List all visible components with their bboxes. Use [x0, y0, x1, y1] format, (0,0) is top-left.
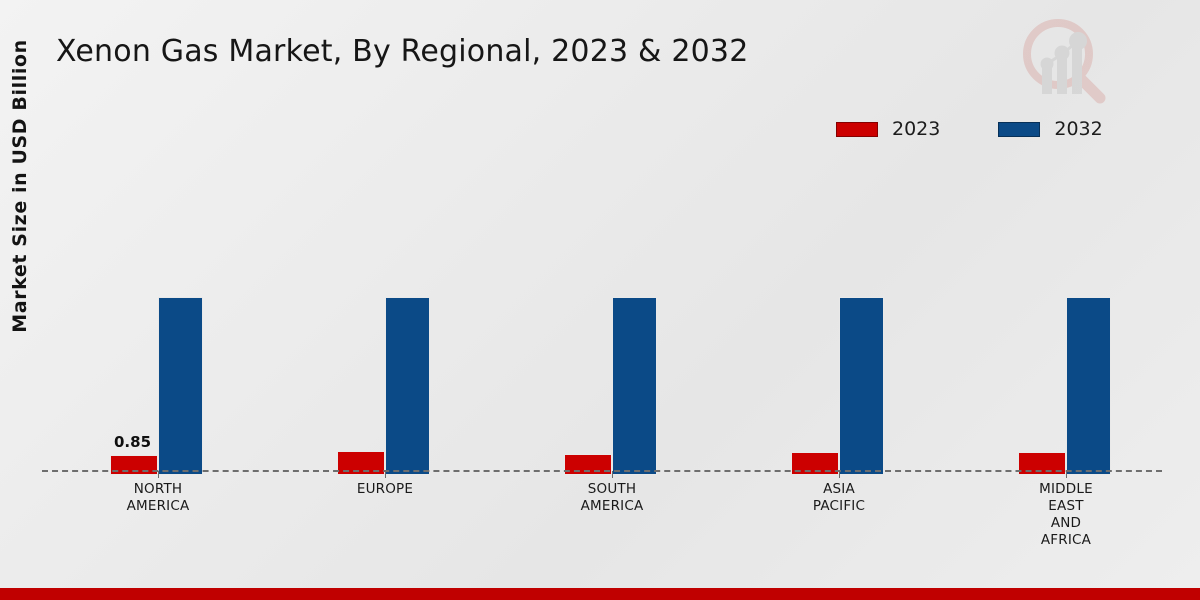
bar-2032-asia-pacific[interactable] [839, 297, 884, 475]
bar-2032-south-america[interactable] [612, 297, 657, 475]
x-axis-label-asia-pacific-line-1: ASIA [779, 481, 899, 498]
x-axis-label-north-america-line-2: AMERICA [98, 498, 218, 515]
axis-tick-asia-pacific [839, 471, 840, 478]
x-axis-label-asia-pacific: ASIA PACIFIC [779, 481, 899, 515]
x-axis-label-asia-pacific-line-2: PACIFIC [779, 498, 899, 515]
x-axis-label-middle-east-and-africa-line-1: MIDDLE [1006, 481, 1126, 498]
x-axis-label-middle-east-and-africa: MIDDLE EAST AND AFRICA [1006, 481, 1126, 549]
x-axis-label-middle-east-and-africa-line-4: AFRICA [1006, 532, 1126, 549]
chart-legend: 2023 2032 [836, 118, 1103, 140]
axis-tick-europe [385, 471, 386, 478]
bar-2032-europe[interactable] [385, 297, 430, 475]
bar-group-north-america: 0.85 [110, 150, 203, 475]
axis-tick-middle-east-and-africa [1066, 471, 1067, 478]
bar-group-europe [337, 150, 430, 475]
x-axis-label-europe-line-1: EUROPE [325, 481, 445, 498]
legend-swatch-2032 [998, 122, 1040, 137]
plot-area: 0.85 [42, 150, 1167, 475]
footer-accent-strip [0, 588, 1200, 600]
x-axis-label-europe: EUROPE [325, 481, 445, 498]
bar-group-middle-east-and-africa [1018, 150, 1111, 475]
legend-label-2032: 2032 [1054, 118, 1102, 140]
bar-group-asia-pacific [791, 150, 884, 475]
legend-swatch-2023 [836, 122, 878, 137]
chart-page: Xenon Gas Market, By Regional, 2023 & 20… [0, 0, 1200, 600]
x-axis-label-north-america: NORTH AMERICA [98, 481, 218, 515]
x-axis-label-middle-east-and-africa-line-3: AND [1006, 515, 1126, 532]
x-axis-label-north-america-line-1: NORTH [98, 481, 218, 498]
x-axis-label-middle-east-and-africa-line-2: EAST [1006, 498, 1126, 515]
x-axis-label-south-america-line-1: SOUTH [552, 481, 672, 498]
bar-2023-north-america[interactable] [110, 455, 158, 475]
x-axis-label-south-america-line-2: AMERICA [552, 498, 672, 515]
bar-value-label-north-america-2023: 0.85 [114, 433, 151, 451]
magnifier-bar-chart-logo-icon [1016, 14, 1108, 106]
x-axis-baseline [42, 470, 1162, 472]
legend-item-2032[interactable]: 2032 [998, 118, 1102, 140]
bar-2032-north-america[interactable] [158, 297, 203, 475]
axis-tick-south-america [612, 471, 613, 478]
axis-tick-north-america [158, 471, 159, 478]
x-axis-label-south-america: SOUTH AMERICA [552, 481, 672, 515]
bar-group-south-america [564, 150, 657, 475]
y-axis-title: Market Size in USD Billion [9, 21, 31, 351]
legend-item-2023[interactable]: 2023 [836, 118, 940, 140]
legend-label-2023: 2023 [892, 118, 940, 140]
page-title: Xenon Gas Market, By Regional, 2023 & 20… [56, 34, 749, 69]
bar-2032-middle-east-and-africa[interactable] [1066, 297, 1111, 475]
